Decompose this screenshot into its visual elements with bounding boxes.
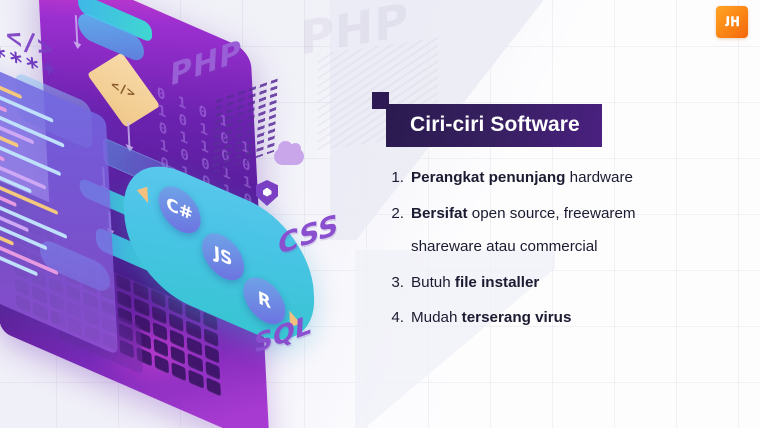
prev-arrow-icon[interactable]: [136, 182, 148, 203]
list-item-number: 4.: [384, 307, 404, 329]
list-item-bold: Bersifat: [411, 205, 468, 222]
lang-badge-csharp[interactable]: C#: [158, 179, 202, 240]
list-item-rest: hardware: [565, 169, 633, 186]
list-item-continuation: shareware atau commercial: [411, 236, 742, 258]
lang-badge-js[interactable]: JS: [201, 226, 245, 287]
list-item: 1. Perangkat penunjang hardware: [384, 167, 742, 189]
list-item-number: 2.: [384, 203, 404, 225]
list-item-number: 1.: [384, 167, 404, 189]
list-item-lead: Mudah: [411, 309, 462, 326]
list-item: 2. Bersifat open source, freewarem share…: [384, 203, 742, 258]
list-item-text: Mudah terserang virus: [411, 307, 742, 329]
list-item: 3. Butuh file installer: [384, 272, 742, 294]
content-panel: Ciri-ciri Software 1. Perangkat penunjan…: [372, 92, 742, 343]
list-item: 4. Mudah terserang virus: [384, 307, 742, 329]
title-banner: Ciri-ciri Software: [386, 104, 602, 147]
list-item-bold: terserang virus: [462, 309, 572, 326]
shield-icon: [256, 180, 278, 206]
list-item-rest: open source, freewarem: [468, 205, 636, 222]
list-item-lead: Butuh: [411, 274, 455, 291]
list-item-text: Butuh file installer: [411, 272, 742, 294]
page-title: Ciri-ciri Software: [410, 113, 580, 137]
slide-canvas: PHP </>: [0, 0, 760, 428]
list-item-text: Bersifat open source, freewarem sharewar…: [411, 203, 742, 258]
list-item-bold: Perangkat penunjang: [411, 169, 565, 186]
jh-monogram-icon: [722, 12, 742, 32]
list-item-text: Perangkat penunjang hardware: [411, 167, 742, 189]
css-label: CSS: [277, 207, 339, 262]
cloud-icon: [274, 148, 304, 165]
list-item-bold: file installer: [455, 274, 539, 291]
list-item-number: 3.: [384, 272, 404, 294]
hero-illustration: </> 0 1 0 1 1 0 1 0 1 0 1 1 0 0 1 0 0 1 …: [0, 0, 386, 428]
features-list: 1. Perangkat penunjang hardware 2. Bersi…: [384, 167, 742, 329]
jh-logo[interactable]: [716, 6, 748, 38]
